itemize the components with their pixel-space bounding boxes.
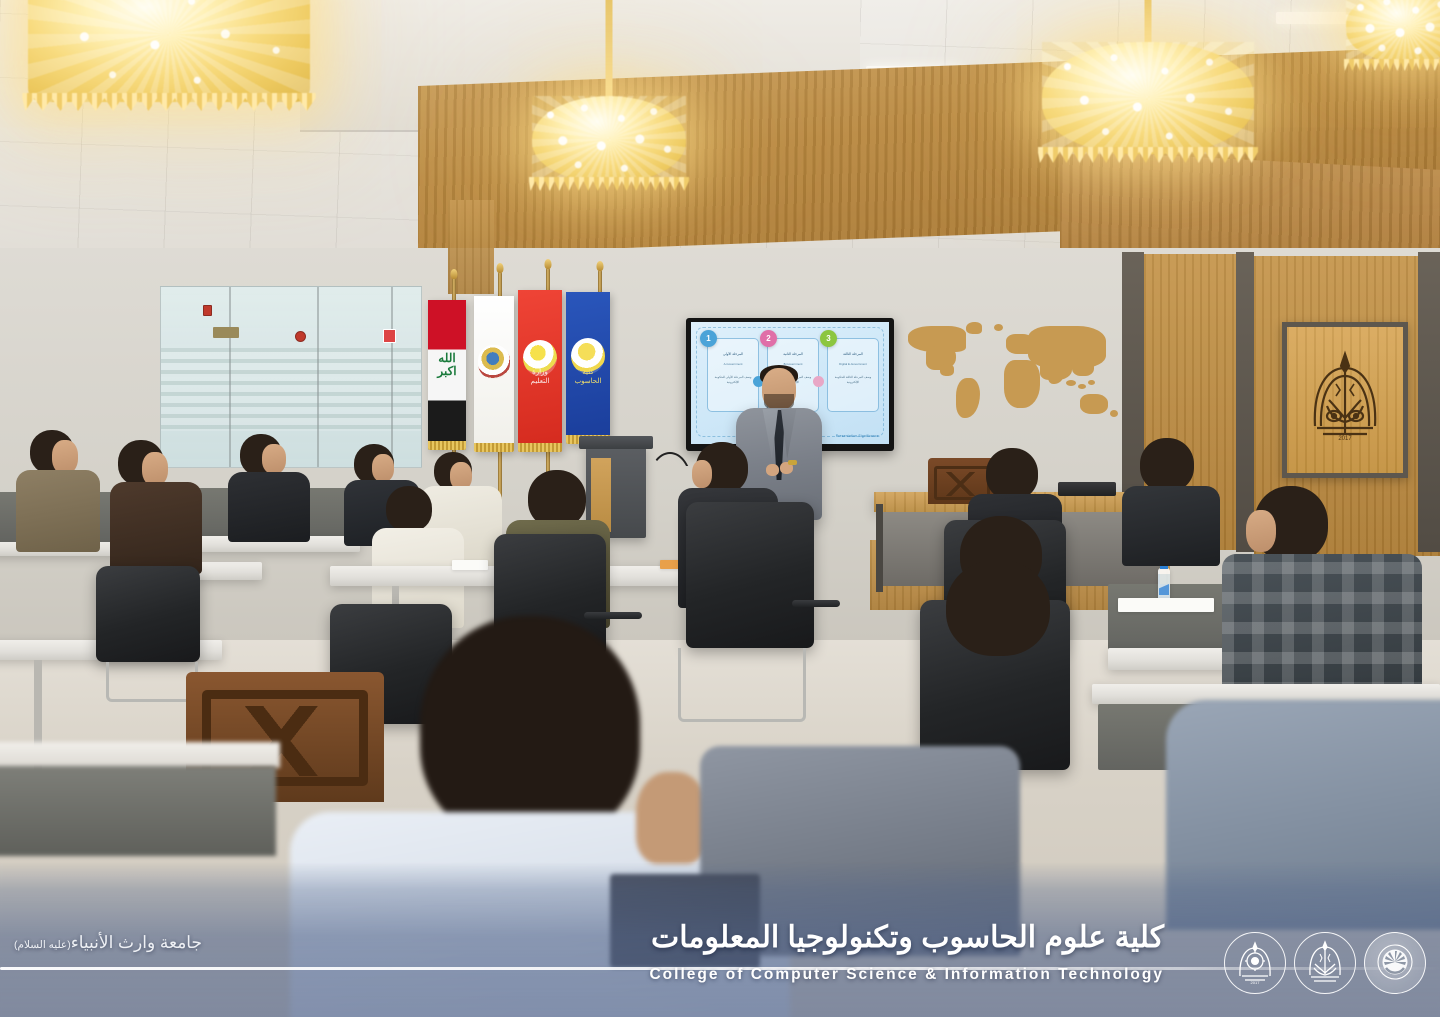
chandelier-light	[28, 0, 310, 102]
foreground-desk-panel	[0, 766, 276, 856]
college-name-english: College of Computer Science & Informatio…	[649, 966, 1164, 984]
foreground-desk	[0, 742, 280, 768]
glass-partition	[160, 286, 422, 468]
lectern-top	[579, 436, 653, 449]
student-torso	[1122, 486, 1220, 566]
iraq-flag: اللهاكبر	[428, 300, 466, 450]
slide-step-title-en: Digital E-Government	[832, 362, 874, 367]
office-chair[interactable]	[686, 502, 814, 648]
slide-step-number: 2	[766, 334, 770, 343]
slide-step-title-ar: المرحلة الثالثة	[832, 352, 874, 357]
college-seal-icon	[1304, 940, 1346, 986]
university-seal-icon: 2017	[1234, 940, 1276, 986]
chair-armrest	[584, 612, 642, 619]
paper-sheet	[1118, 598, 1214, 612]
college-seal-logo	[1294, 932, 1356, 994]
chandelier-light	[1346, 0, 1440, 62]
flag-finial	[597, 261, 604, 271]
slide-step-body: وصف المرحلة الثالثة للحكومة الإلكترونية	[832, 375, 874, 386]
flag-finial	[451, 269, 458, 279]
student-face	[142, 452, 168, 486]
office-chair[interactable]	[96, 566, 200, 662]
student-head	[420, 616, 640, 842]
front-desk-leg	[876, 504, 883, 592]
university-flag	[474, 296, 514, 452]
chair-cantilever-base	[678, 648, 806, 722]
university-watermark-name: جامعة وارث الأنبياء	[71, 933, 202, 952]
slide-step-badge: 2	[760, 330, 777, 347]
student-head	[986, 448, 1038, 500]
student-head	[946, 560, 1050, 656]
wall-dark-column	[1236, 252, 1254, 552]
student-face	[692, 460, 712, 488]
slide-step-number: 3	[826, 334, 830, 343]
slide-step-number: 1	[706, 334, 710, 343]
university-seal-logo: 2017	[1224, 932, 1286, 994]
slide-step-title-ar: المرحلة الأولى	[712, 352, 754, 357]
university-watermark: جامعة وارث الأنبياء(عليه السلام)	[14, 933, 202, 953]
slide-step-card: 3 المرحلة الثالثة Digital E-Government و…	[827, 338, 879, 412]
university-watermark-honorific: (عليه السلام)	[14, 939, 71, 951]
blue-institution-flag: كليةالحاسوب	[566, 292, 610, 444]
fire-alarm-icon	[203, 305, 212, 316]
svg-text:2017: 2017	[1251, 980, 1261, 985]
university-of-warith-al-anbiya-emblem-icon: 2017	[1303, 348, 1387, 452]
college-name-arabic: كلية علوم الحاسوب وتكنولوجيا المعلومات	[651, 920, 1164, 955]
av-equipment	[1058, 482, 1116, 496]
water-bottle	[1158, 568, 1170, 602]
chair-armrest	[792, 600, 840, 607]
student-torso	[16, 470, 100, 552]
chandelier-light	[1042, 42, 1254, 154]
slide-step-badge: 1	[700, 330, 717, 347]
flag-emblem	[478, 345, 510, 379]
wall-dark-column	[1418, 252, 1440, 552]
footer-brand-bar: جامعة وارث الأنبياء(عليه السلام) كلية عل…	[0, 862, 1440, 1017]
paper-sheet	[452, 560, 488, 570]
chair-cantilever-base	[106, 662, 198, 702]
slide-footer-note: Presentation Significance	[836, 434, 879, 438]
ministry-seal-icon	[1374, 940, 1416, 986]
student-head	[1140, 438, 1194, 492]
student-face	[1246, 510, 1276, 552]
presenter-hand-left	[766, 464, 779, 476]
student-hand-foreground	[636, 772, 708, 864]
student-face	[52, 440, 78, 474]
world-map-decal	[900, 322, 1122, 434]
student-head	[386, 486, 432, 532]
photo-canvas: 1 المرحلة الأولى A-Government وصف المرحل…	[0, 0, 1440, 1017]
student-torso	[110, 482, 202, 574]
fire-alarm-icon	[295, 331, 306, 342]
red-institution-flag: وزارةالتعليم	[518, 290, 562, 452]
footer-logo-row: 2017	[1224, 932, 1426, 994]
student-face	[262, 444, 286, 474]
svg-text:2017: 2017	[1338, 436, 1352, 442]
presenter-wristwatch	[788, 460, 797, 465]
exit-sign-icon	[383, 329, 396, 343]
student-face	[372, 454, 394, 482]
university-emblem-plaque: 2017	[1282, 322, 1408, 478]
slide-step-title-ar: المرحلة الثانية	[772, 352, 814, 357]
student-torso	[228, 472, 310, 542]
slide-step-title-en: A-Government	[712, 362, 754, 367]
chandelier-light	[532, 96, 686, 182]
flag-finial	[545, 259, 552, 269]
flag-finial	[497, 263, 504, 273]
ministry-seal-logo	[1364, 932, 1426, 994]
slide-step-badge: 3	[820, 330, 837, 347]
